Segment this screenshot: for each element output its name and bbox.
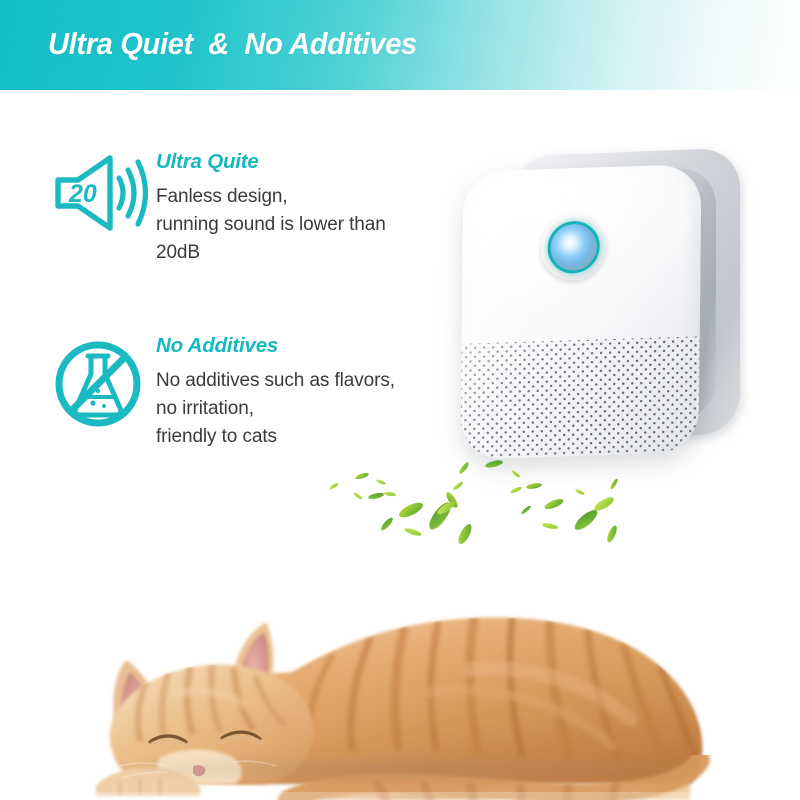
device-power-button[interactable] xyxy=(540,213,607,281)
feature-no-additives-heading: No Additives xyxy=(156,334,395,358)
page-title: Ultra Quiet & No Additives xyxy=(48,26,417,62)
no-additives-flask-icon xyxy=(52,332,148,428)
feature-ultra-quiet: 20 Ultra Quite Fanless design, running s… xyxy=(52,148,386,267)
device-front-panel xyxy=(460,164,701,460)
device-button-ring xyxy=(547,220,600,274)
floating-green-leaves xyxy=(318,452,658,562)
device-indicator-light xyxy=(550,223,596,270)
feature-ultra-quiet-body: Fanless design, running sound is lower t… xyxy=(156,183,386,267)
feature-no-additives-body: No additives such as flavors, no irritat… xyxy=(156,367,395,451)
device-vent-grille xyxy=(460,336,699,460)
speaker-volume-icon: 20 xyxy=(52,148,148,244)
feature-ultra-quiet-text: Ultra Quite Fanless design, running soun… xyxy=(148,148,386,267)
feature-no-additives: No Additives No additives such as flavor… xyxy=(52,332,395,451)
sleeping-orange-tabby-cat xyxy=(0,560,800,800)
product-feature-page: Ultra Quiet & No Additives 20 Ultra Quit… xyxy=(0,0,800,800)
cat-ground-shadow xyxy=(120,756,690,782)
header-banner: Ultra Quiet & No Additives xyxy=(0,0,800,90)
air-purifier-device xyxy=(450,150,750,470)
feature-no-additives-text: No Additives No additives such as flavor… xyxy=(148,332,395,451)
feature-ultra-quiet-heading: Ultra Quite xyxy=(156,150,386,174)
speaker-db-value: 20 xyxy=(68,180,97,208)
